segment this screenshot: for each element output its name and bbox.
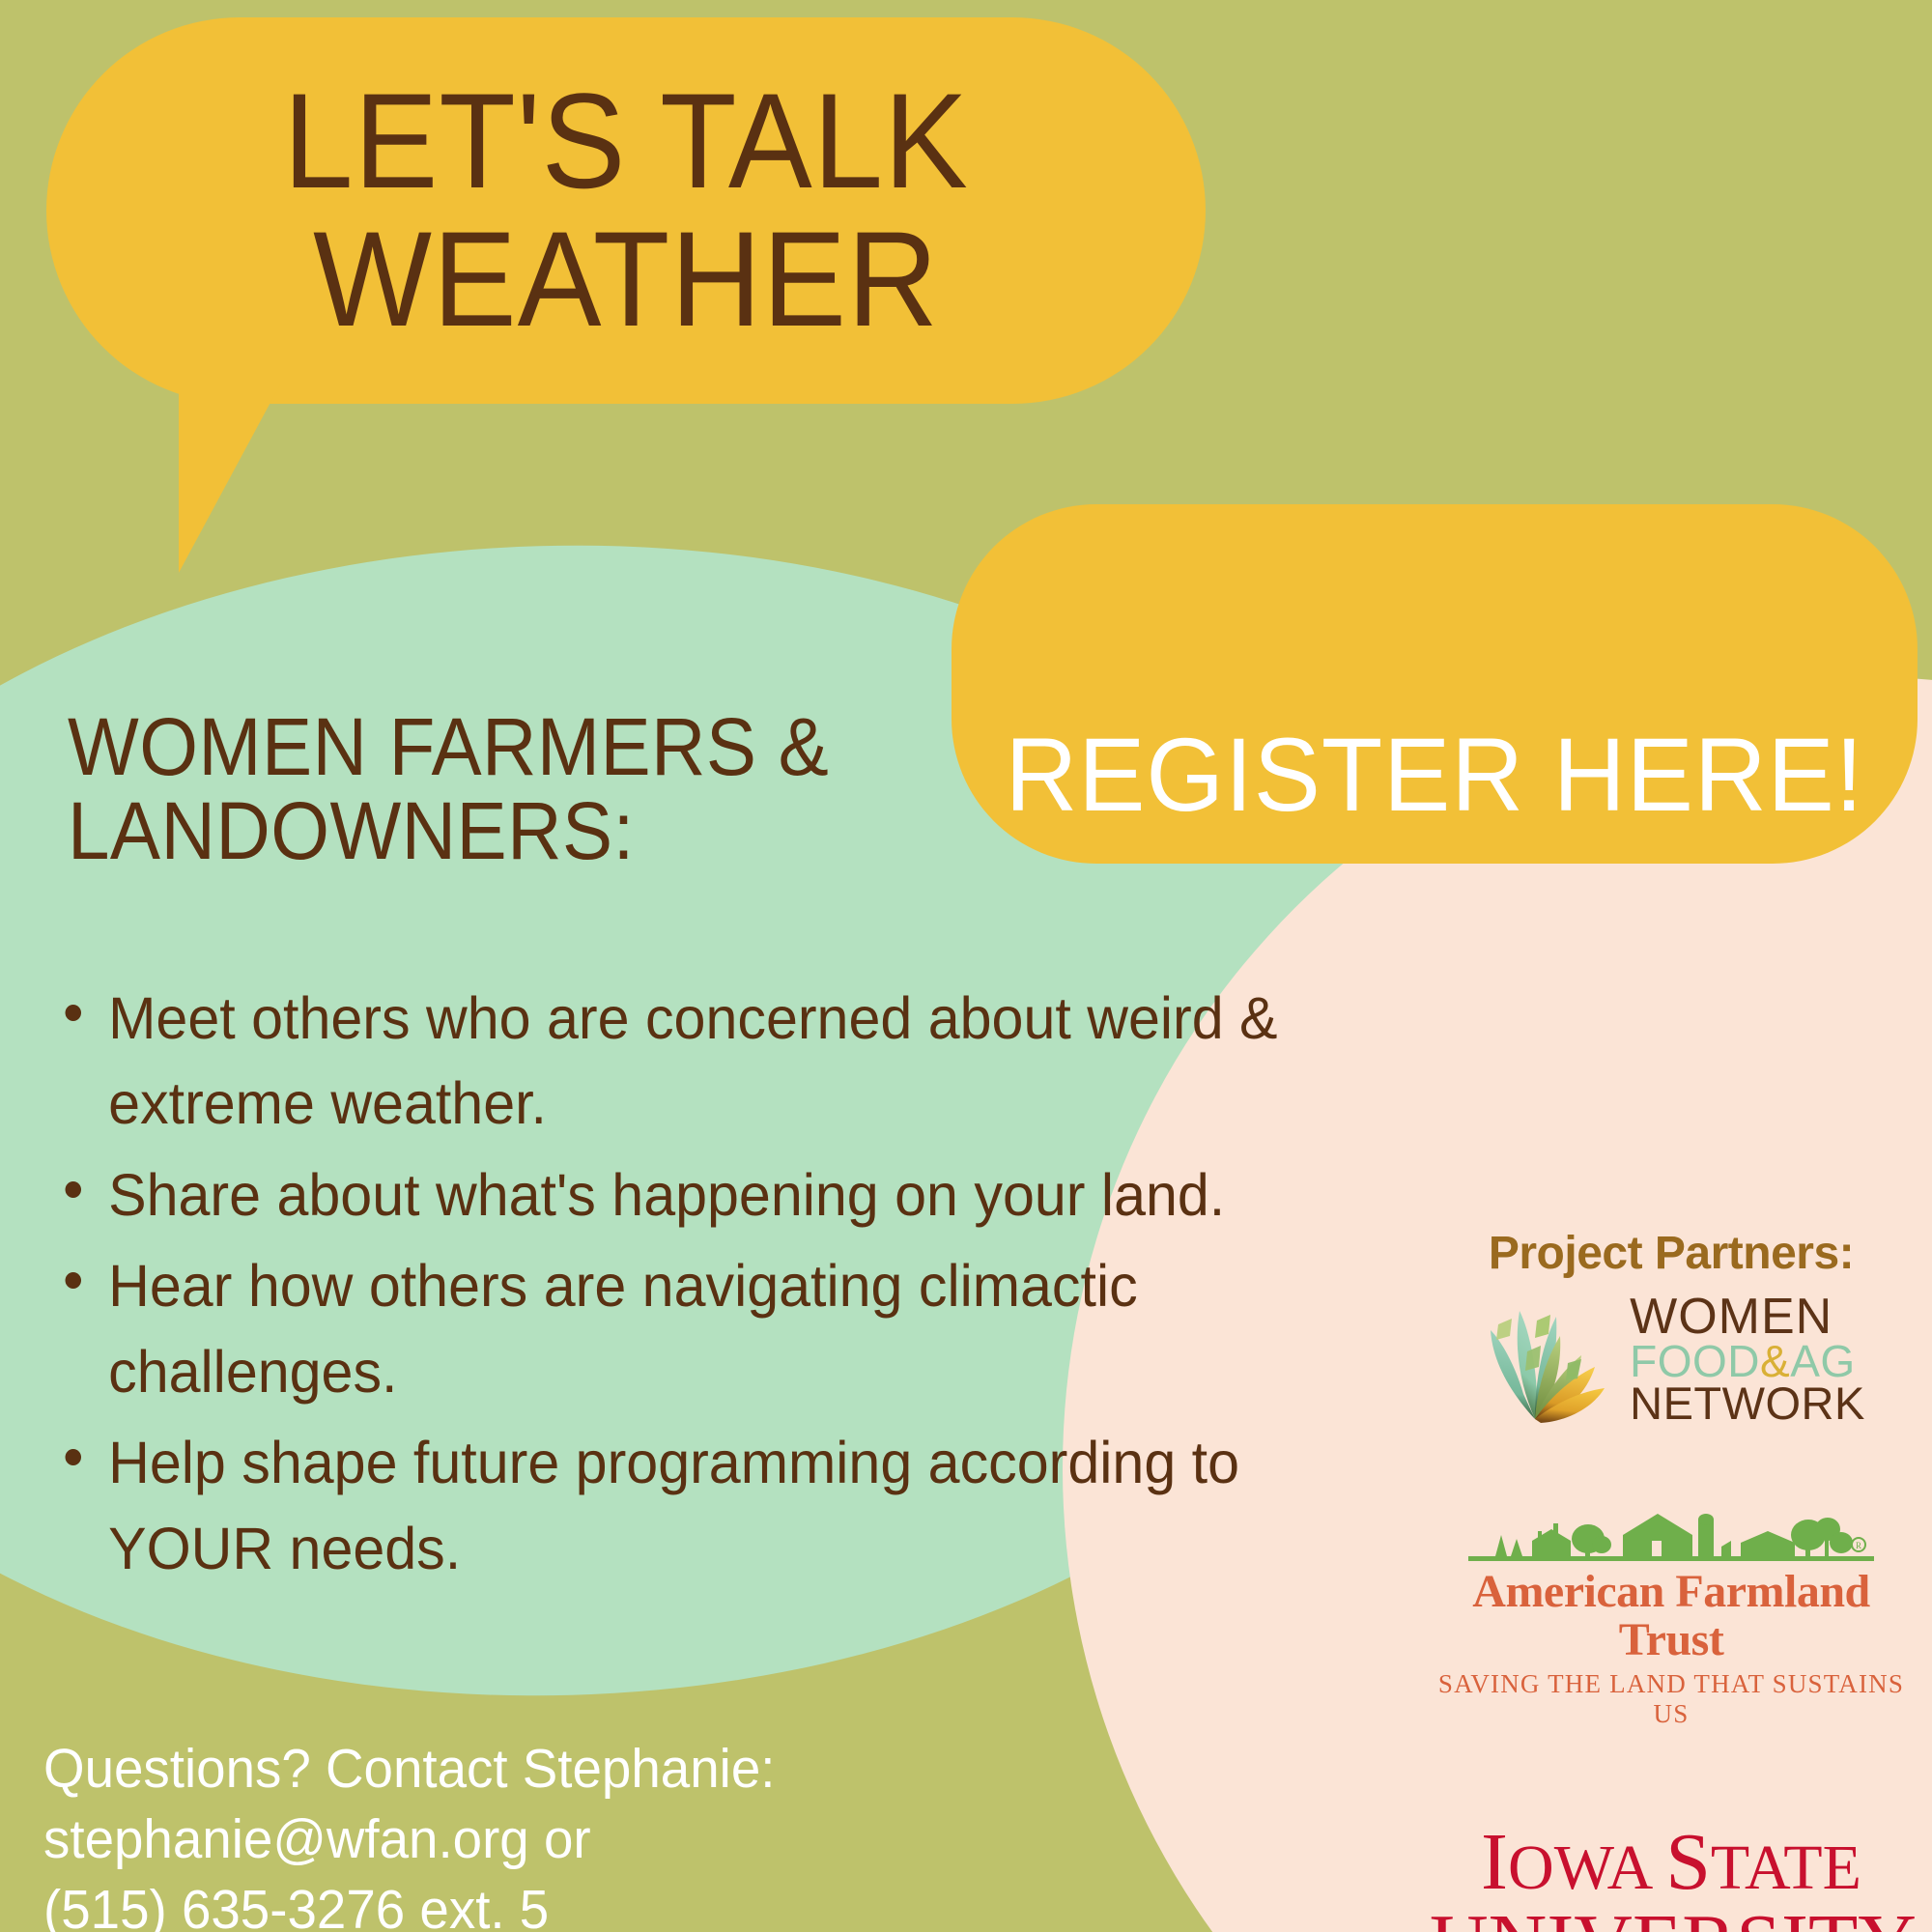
contact-phone[interactable]: (515) 635-3276 ext. 5 xyxy=(43,1875,878,1932)
poster-title: LET'S TALK WEATHER xyxy=(87,17,1165,404)
title-speech-bubble-tail-icon xyxy=(179,384,280,573)
isu-owa: OWA xyxy=(1508,1833,1665,1903)
wfan-wordmark: WOMEN FOOD&AG NETWORK xyxy=(1630,1293,1865,1425)
title-line-2: WEATHER xyxy=(313,211,939,349)
contact-email[interactable]: stephanie@wfan.org or xyxy=(43,1804,878,1875)
wfan-leaf-mark-icon xyxy=(1477,1292,1622,1427)
register-here-label[interactable]: REGISTER HERE! xyxy=(971,504,1898,864)
isu-cap-s: S xyxy=(1665,1817,1711,1907)
audience-heading-line-1: WOMEN FARMERS & xyxy=(68,705,903,789)
isu-line-2: UNIVERSITY xyxy=(1430,1903,1913,1932)
aft-tagline: SAVING THE LAND THAT SUSTAINS US xyxy=(1430,1669,1913,1729)
project-partners-section: Project Partners: xyxy=(1430,1227,1913,1932)
aft-name: American Farmland Trust xyxy=(1430,1568,1913,1665)
wfan-word-women: WOMEN xyxy=(1630,1293,1865,1341)
audience-heading-line-2: LANDOWNERS: xyxy=(68,789,903,873)
audience-heading: WOMEN FARMERS & LANDOWNERS: xyxy=(68,705,903,874)
list-item: Hear how others are navigating climactic… xyxy=(50,1243,1400,1414)
list-item: Meet others who are concerned about weir… xyxy=(50,976,1400,1147)
wfan-logo: WOMEN FOOD&AG NETWORK xyxy=(1430,1292,1913,1427)
contact-line-1: Questions? Contact Stephanie: xyxy=(43,1734,878,1804)
contact-block: Questions? Contact Stephanie: stephanie@… xyxy=(43,1734,878,1932)
isu-tate: TATE xyxy=(1711,1833,1861,1903)
title-line-1: LET'S TALK xyxy=(283,72,969,211)
iowa-state-university-logo: IOWA STATE UNIVERSITY xyxy=(1430,1822,1913,1932)
svg-text:R: R xyxy=(1856,1541,1861,1550)
isu-cap-i: I xyxy=(1481,1817,1508,1907)
farm-skyline-icon: R xyxy=(1468,1502,1874,1566)
list-item: Share about what's happening on your lan… xyxy=(50,1152,1400,1237)
wfan-word-network: NETWORK xyxy=(1630,1382,1865,1425)
list-item: Help shape future programming according … xyxy=(50,1420,1400,1591)
american-farmland-trust-logo: R American Farmland Trust SAVING THE LAN… xyxy=(1430,1502,1913,1729)
project-partners-label: Project Partners: xyxy=(1430,1227,1913,1280)
benefits-list: Meet others who are concerned about weir… xyxy=(50,976,1441,1597)
wfan-word-foodag: FOOD&AG xyxy=(1630,1341,1865,1382)
isu-line-1: IOWA STATE xyxy=(1430,1822,1913,1903)
poster-canvas: LET'S TALK WEATHER REGISTER HERE! WOMEN … xyxy=(0,0,1932,1932)
